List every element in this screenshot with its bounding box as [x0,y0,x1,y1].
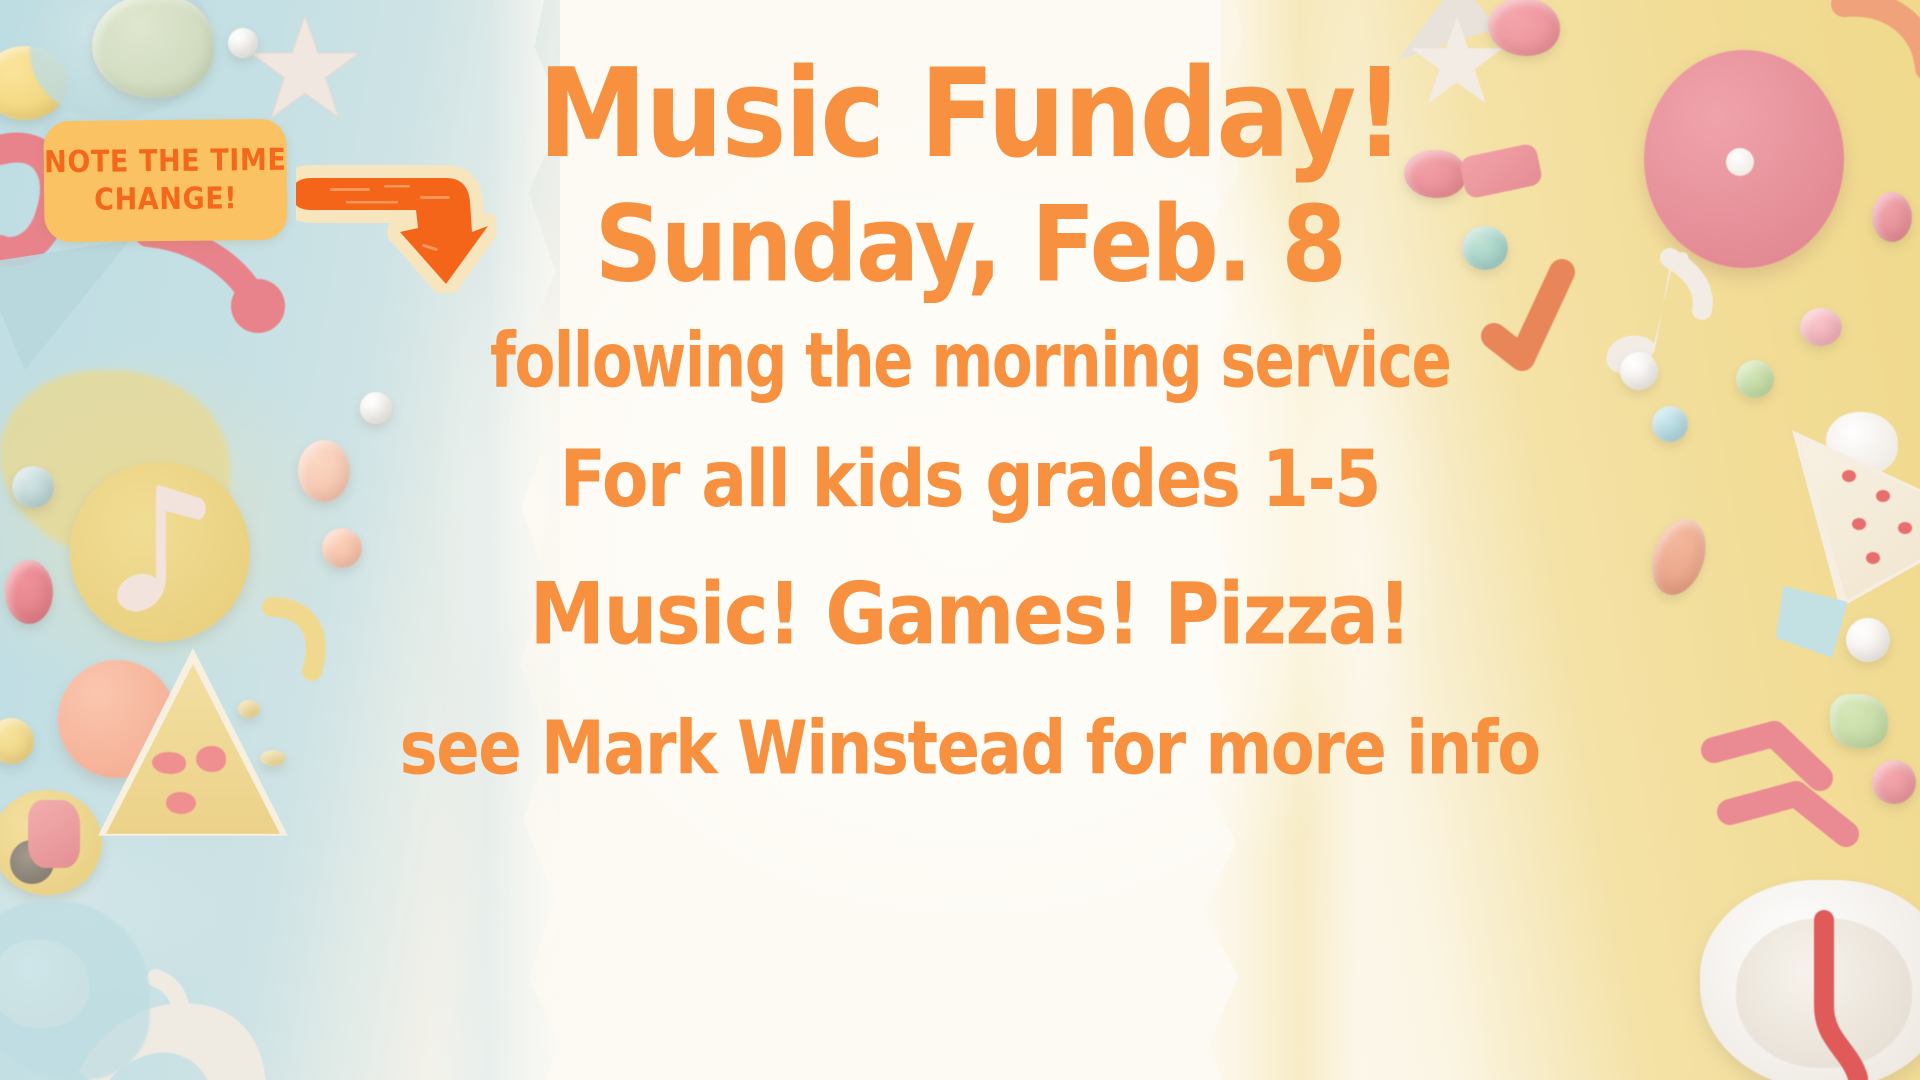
white-eighth-note [1598,246,1728,396]
peach-clay-ball-small [322,528,362,568]
pizza-dot-3 [1852,518,1866,530]
yellow-clay-bit-3 [260,750,286,766]
pink-clay-pebble [1404,150,1466,198]
white-music-note [96,476,226,626]
pizza-dot [1842,470,1856,482]
pizza-topping [152,752,186,774]
white-clay-ball-r [1620,352,1658,390]
badge-line-2: change! [94,178,237,221]
yellow-clay-bit [238,700,260,718]
drum-center-dot [1726,148,1754,176]
pizza-dot-4 [1898,522,1912,534]
pizza-dot-5 [1866,552,1880,564]
green-clay-ball [1736,360,1774,398]
pink-clay-capsule [5,560,53,624]
time-change-badge: Note the time change! [43,119,287,243]
pink-clay-mallet [28,800,80,868]
pizza-dot-2 [1876,490,1890,502]
arrow-graphic [296,158,496,293]
pizza-topping-3 [166,792,196,814]
pink-clay-ball-b [1872,760,1916,804]
red-clay-straw [1772,910,1902,1080]
peach-clay-egg [298,440,350,502]
blue-clay-ball-r [1652,406,1688,442]
white-clay-ball [228,28,258,58]
yellow-clay-crescent [250,595,340,685]
orange-clay-swoosh [1828,0,1920,110]
pizza-topping-2 [196,746,226,772]
blue-clay-ball [12,466,54,508]
pink-clay-ball-r [1800,308,1842,346]
right-panel-torn-edge [1130,0,1360,1080]
white-clay-ball-right [360,392,392,424]
green-clay-egg [92,0,214,98]
white-clay-ball-lower [1846,618,1890,662]
badge-line-1: Note the time [44,140,287,184]
poster-canvas: Note the time change! Music Funday! Sund… [0,0,1920,1080]
green-clay-chunk [1830,694,1888,748]
coral-note-mallet [118,218,288,388]
bent-arrow-icon [296,158,496,293]
pink-clay-ball-r2 [1872,192,1912,242]
